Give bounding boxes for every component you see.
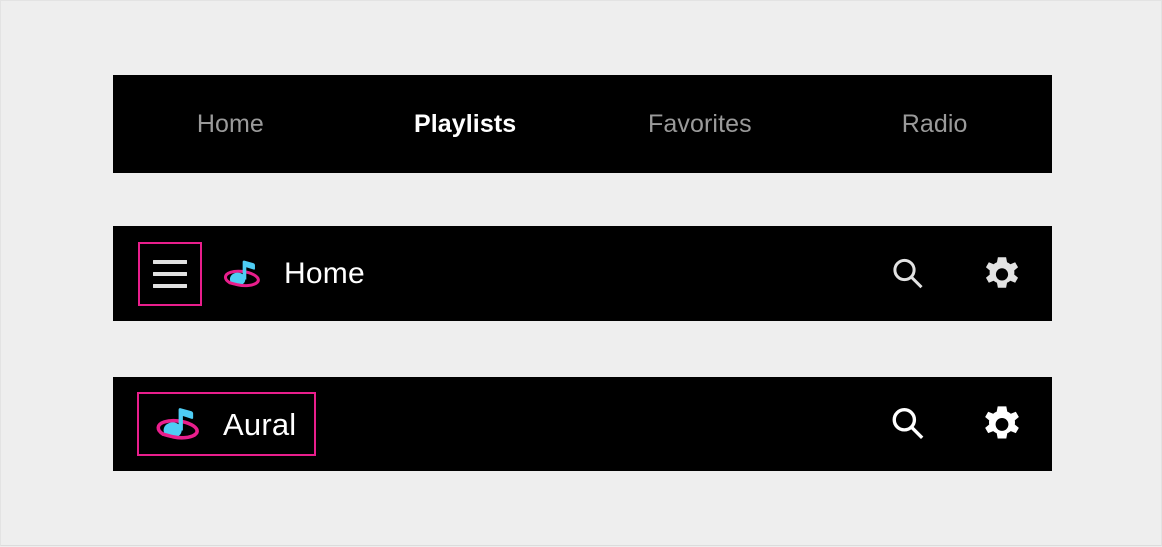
brand-label: Aural xyxy=(223,409,296,440)
settings-button[interactable] xyxy=(978,250,1026,298)
aural-toolbar: Aural xyxy=(113,377,1052,471)
tab-home[interactable]: Home xyxy=(113,112,348,137)
hamburger-line xyxy=(153,260,187,264)
tab-playlists[interactable]: Playlists xyxy=(348,112,583,137)
search-button[interactable] xyxy=(884,250,932,298)
home-toolbar: Home xyxy=(113,226,1052,321)
search-icon xyxy=(888,254,928,294)
gear-icon xyxy=(982,254,1022,294)
tab-radio[interactable]: Radio xyxy=(817,112,1052,137)
brand-button[interactable]: Aural xyxy=(137,392,316,456)
tab-navigation-bar: Home Playlists Favorites Radio xyxy=(113,75,1052,173)
gear-icon xyxy=(981,403,1023,445)
search-button[interactable] xyxy=(884,400,932,448)
hamburger-line xyxy=(153,284,187,288)
aural-note-logo-icon xyxy=(153,398,205,450)
hamburger-line xyxy=(153,272,187,276)
tab-favorites[interactable]: Favorites xyxy=(583,112,818,137)
toolbar-title: Home xyxy=(284,259,365,289)
search-icon xyxy=(887,403,929,445)
settings-button[interactable] xyxy=(978,400,1026,448)
aural-note-logo-icon xyxy=(221,252,265,296)
mockup-canvas: Home Playlists Favorites Radio Home xyxy=(1,1,1162,547)
hamburger-menu-icon[interactable] xyxy=(138,242,202,306)
